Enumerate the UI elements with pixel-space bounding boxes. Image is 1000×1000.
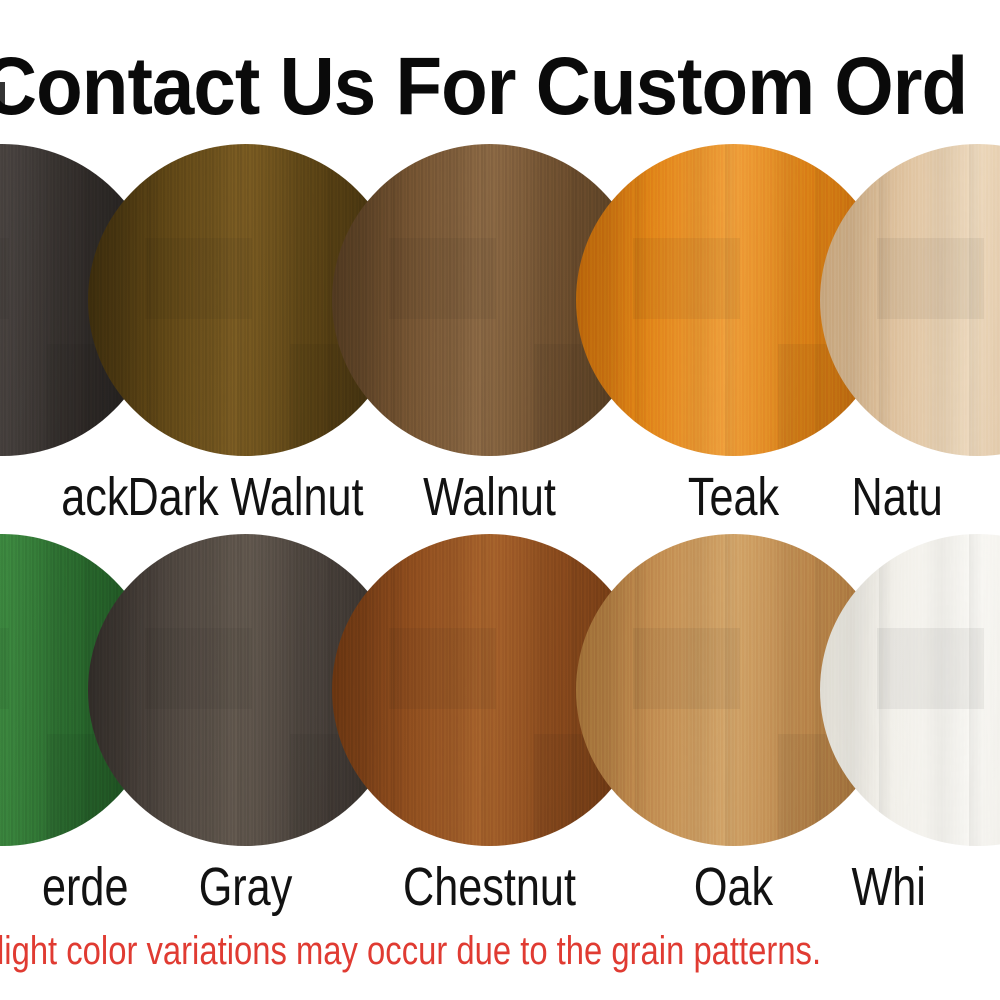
swatch-label-natural: Natu	[852, 466, 1000, 528]
grain-plank-seam	[145, 238, 252, 319]
grain-plank-seam	[389, 628, 496, 709]
grain-variation-note-text: light color variations may occur due to …	[0, 920, 821, 982]
grain-plank-seam	[877, 628, 984, 709]
wood-disc-natural	[820, 144, 1000, 456]
swatch-label-gray: Gray	[120, 856, 372, 918]
swatch-label-oak: Oak	[608, 856, 860, 918]
page-title: Contact Us For Custom Ord	[0, 34, 1000, 139]
swatch-label-teak: Teak	[608, 466, 860, 528]
swatch-label-chestnut: Chestnut	[364, 856, 616, 918]
swatch-white[interactable]: Whi	[820, 534, 1000, 846]
swatch-label-dark-walnut: Dark Walnut	[120, 466, 372, 528]
grain-plank-seam	[389, 238, 496, 319]
grain-plank-seam	[0, 628, 9, 709]
grain-plank-seam	[877, 238, 984, 319]
wood-disc-white	[820, 534, 1000, 846]
swatch-grid: ack Dark Walnut Walnut Teak Natu e	[0, 140, 1000, 915]
page-title-text: Contact Us For Custom Ord	[0, 34, 967, 139]
swatch-label-white: Whi	[852, 856, 1000, 918]
swatch-label-verde: erde	[0, 856, 129, 918]
swatch-row-2: erde Gray Chestnut Oak Whi	[0, 530, 1000, 915]
grain-plank-seam	[633, 628, 740, 709]
grain-plank-seam	[633, 238, 740, 319]
grain-variation-note: light color variations may occur due to …	[0, 920, 1000, 982]
grain-plank-seam	[145, 628, 252, 709]
grain-plank-seam	[0, 238, 9, 319]
swatch-natural[interactable]: Natu	[820, 144, 1000, 456]
swatch-row-1: ack Dark Walnut Walnut Teak Natu	[0, 140, 1000, 525]
swatch-label-black: ack	[0, 466, 129, 528]
swatch-label-walnut: Walnut	[364, 466, 616, 528]
wood-stain-color-chart: Contact Us For Custom Ord ack Dark Walnu…	[0, 0, 1000, 1000]
